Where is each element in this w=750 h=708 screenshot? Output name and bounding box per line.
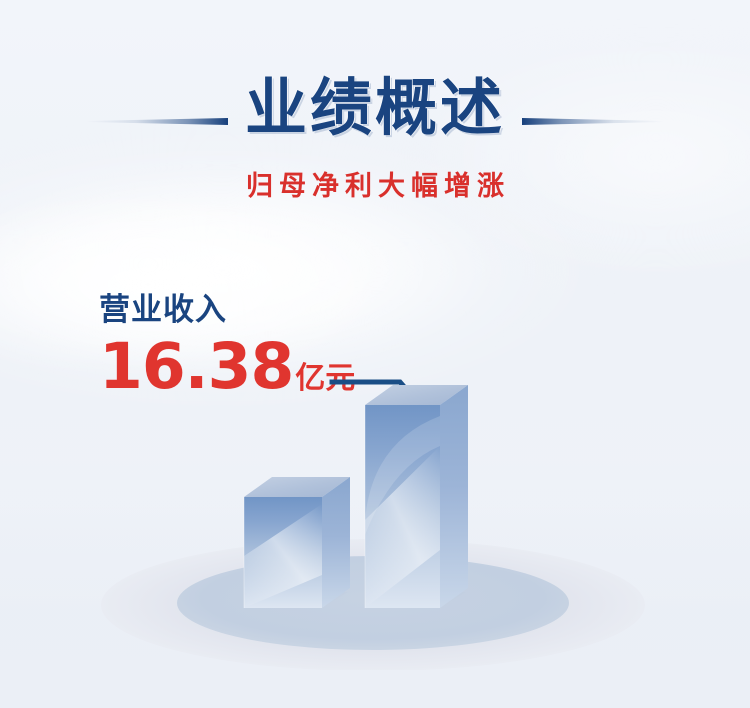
page-subtitle: 归母净利大幅增涨 bbox=[0, 170, 750, 202]
bar-side-face-1 bbox=[440, 385, 468, 608]
infographic-canvas: 业绩概述 归母净利大幅增涨 营业收入 16.38 亿元 bbox=[0, 0, 750, 708]
bar-chart bbox=[0, 370, 750, 670]
revenue-label: 营业收入 bbox=[99, 292, 355, 328]
bar-side-face-0 bbox=[322, 477, 350, 608]
header: 业绩概述 归母净利大幅增涨 bbox=[0, 0, 750, 240]
page-title: 业绩概述 bbox=[0, 74, 750, 142]
bar-group-0 bbox=[244, 477, 350, 608]
bar-group-1 bbox=[365, 385, 468, 608]
